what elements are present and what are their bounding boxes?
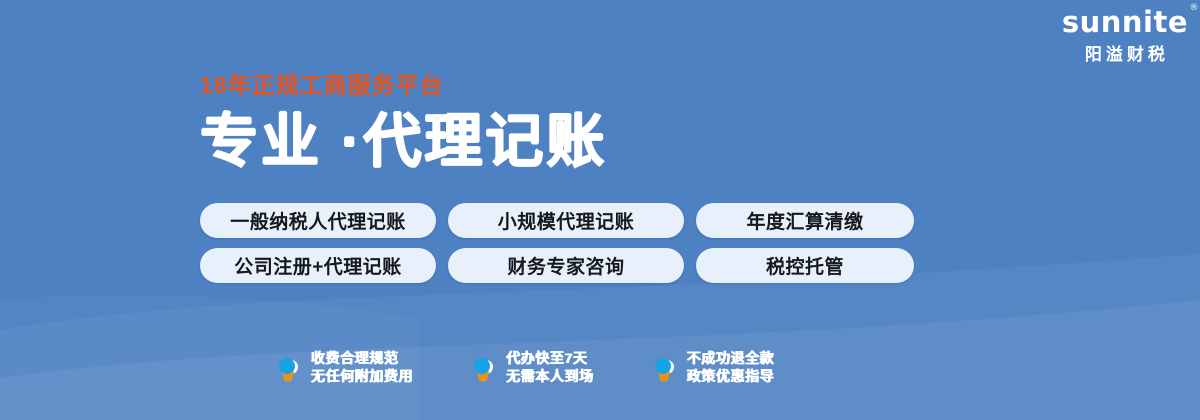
logo-wordmark-text: sunnite: [1062, 5, 1188, 39]
circle-crescent-icon: [471, 353, 497, 383]
service-pill[interactable]: 年度汇算清缴: [696, 203, 914, 238]
feature-item: 代办快至7天 无需本人到场: [471, 350, 594, 385]
service-pill[interactable]: 一般纳税人代理记账: [200, 203, 436, 238]
feature-line-secondary: 无任何附加费用: [311, 368, 413, 386]
feature-item: 不成功退全款 政策优惠指导: [652, 350, 775, 385]
page-title: 专业 ·代理记账: [200, 113, 607, 171]
logo-chinese-name: 阳溢财税: [1062, 46, 1188, 63]
feature-line-secondary: 无需本人到场: [506, 368, 594, 386]
feature-item: 收费合理规范 无任何附加费用: [276, 350, 413, 385]
logo-wordmark: sunnite ®: [1062, 8, 1188, 37]
service-pill-grid: 一般纳税人代理记账 小规模代理记账 年度汇算清缴 公司注册+代理记账 财务专家咨…: [200, 203, 914, 283]
brand-logo[interactable]: sunnite ® 阳溢财税: [1062, 8, 1188, 63]
feature-highlight-row: 收费合理规范 无任何附加费用 代办快至7天 无需本人到场 不成功退全款: [276, 350, 774, 385]
circle-crescent-icon: [652, 353, 678, 383]
feature-text-lines: 收费合理规范 无任何附加费用: [311, 350, 413, 385]
service-pill[interactable]: 小规模代理记账: [448, 203, 684, 238]
feature-text-lines: 不成功退全款 政策优惠指导: [687, 350, 775, 385]
service-pill[interactable]: 税控托管: [696, 248, 914, 283]
circle-crescent-icon: [276, 353, 302, 383]
feature-line-primary: 代办快至7天: [506, 350, 594, 368]
promo-banner: sunnite ® 阳溢财税 18年正规工商服务平台 专业 ·代理记账 一般纳税…: [0, 0, 1200, 420]
service-pill[interactable]: 财务专家咨询: [448, 248, 684, 283]
feature-text-lines: 代办快至7天 无需本人到场: [506, 350, 594, 385]
feature-line-secondary: 政策优惠指导: [687, 368, 775, 386]
eyebrow-text: 18年正规工商服务平台: [200, 74, 607, 97]
feature-line-primary: 收费合理规范: [311, 350, 413, 368]
headline-block: 18年正规工商服务平台 专业 ·代理记账: [200, 74, 607, 171]
feature-line-primary: 不成功退全款: [687, 350, 775, 368]
registered-trademark-icon: ®: [1190, 4, 1200, 13]
service-pill[interactable]: 公司注册+代理记账: [200, 248, 436, 283]
